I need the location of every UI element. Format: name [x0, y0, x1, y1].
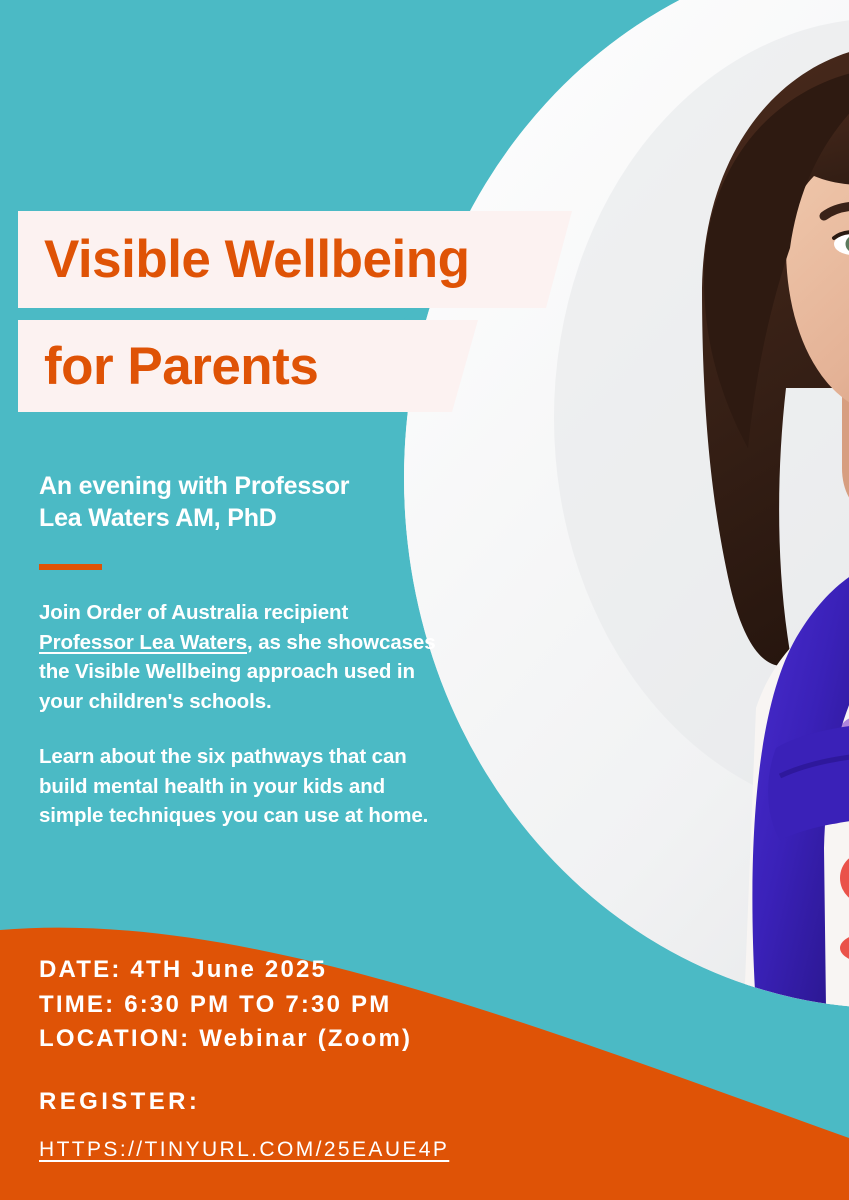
paragraph-1-prefix: Join Order of Australia recipient: [39, 601, 348, 624]
subtitle: An evening with Professor Lea Waters AM,…: [39, 470, 439, 534]
poster-canvas: Visible Wellbeing for Parents An evening…: [0, 0, 849, 1200]
title-divider-rule: [18, 308, 403, 320]
subtitle-line2: Lea Waters AM, PhD: [39, 502, 439, 534]
registration-url-link[interactable]: HTTPS://TINYURL.COM/25EAUE4P: [39, 1138, 449, 1162]
event-location: LOCATION: Webinar (Zoom): [39, 1022, 412, 1057]
title-band-line2: for Parents: [18, 320, 452, 412]
body-paragraph-2: Learn about the six pathways that can bu…: [39, 742, 439, 831]
professor-lea-waters-link[interactable]: Professor Lea Waters: [39, 631, 247, 654]
title-band-1-notch: [546, 211, 572, 308]
event-details: DATE: 4TH June 2025 TIME: 6:30 PM TO 7:3…: [39, 953, 412, 1057]
poster-title-line1: Visible Wellbeing: [44, 233, 469, 286]
register-label: REGISTER:: [39, 1088, 200, 1116]
body-paragraph-1: Join Order of Australia recipient Profes…: [39, 598, 439, 716]
event-time: TIME: 6:30 PM TO 7:30 PM: [39, 988, 412, 1023]
body-copy: Join Order of Australia recipient Profes…: [39, 598, 439, 831]
speaker-portrait-image: [404, 0, 849, 1008]
portrait-circle-backdrop: [404, 0, 849, 1008]
poster-title-line2: for Parents: [44, 340, 318, 393]
title-band-2-notch: [452, 320, 478, 412]
orange-accent-dash: [39, 564, 102, 570]
event-date: DATE: 4TH June 2025: [39, 953, 412, 988]
title-divider-notch: [403, 308, 416, 320]
title-band-line1: Visible Wellbeing: [18, 211, 546, 308]
subtitle-line1: An evening with Professor: [39, 470, 439, 502]
